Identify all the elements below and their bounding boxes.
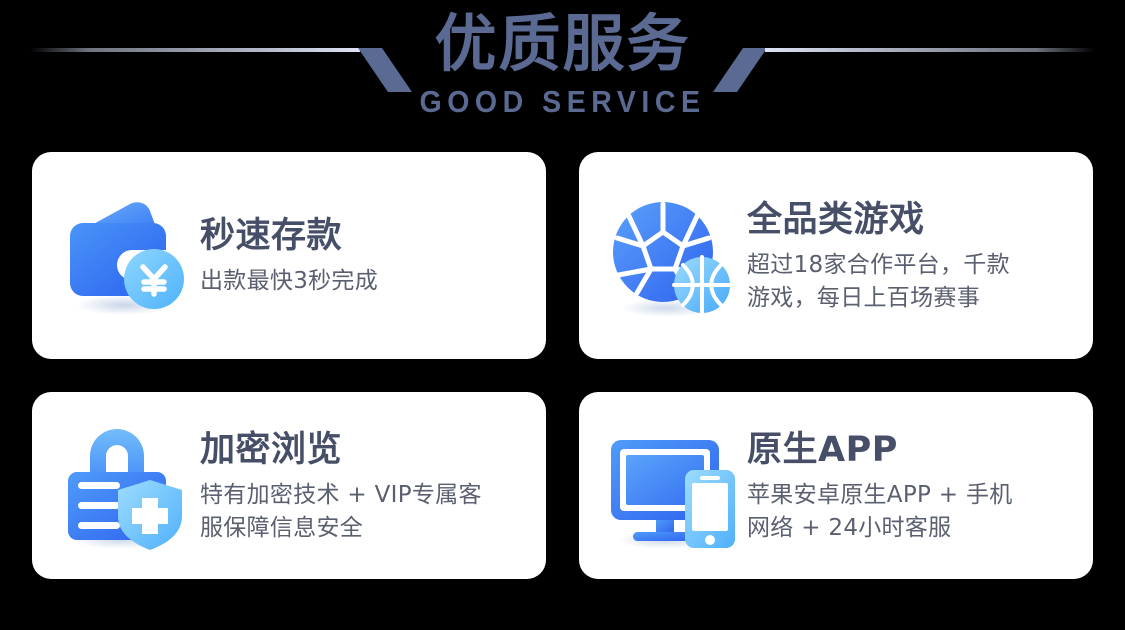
card-title: 原生APP <box>747 427 1079 473</box>
phone-speaker <box>700 476 720 480</box>
card-title: 秒速存款 <box>200 213 532 259</box>
service-card-native-app[interactable]: 原生APP 苹果安卓原生APP + 手机 网络 + 24小时客服 <box>579 392 1093 579</box>
card-description-line: 苹果安卓原生APP + 手机 <box>747 479 1079 512</box>
card-description: 特有加密技术 + VIP专属客 服保障信息安全 <box>200 479 532 545</box>
card-description-line: 服保障信息安全 <box>200 512 532 545</box>
card-description-line: 游戏，每日上百场赛事 <box>747 282 1079 315</box>
page-subtitle: GOOD SERVICE <box>45 84 1080 120</box>
monitor-phone-icon <box>601 420 741 552</box>
card-description-line: 出款最快3秒完成 <box>200 265 532 298</box>
lock-shackle <box>90 429 144 476</box>
basketball-seams <box>674 257 730 313</box>
monitor-stand-neck <box>656 520 674 534</box>
card-text-block: 秒速存款 出款最快3秒完成 <box>194 213 532 298</box>
service-card-encryption[interactable]: 加密浏览 特有加密技术 + VIP专属客 服保障信息安全 <box>32 392 546 579</box>
card-description: 超过18家合作平台，千款 游戏，每日上百场赛事 <box>747 249 1079 315</box>
lock-shield-icon <box>54 420 194 552</box>
banner-header: 优质服务 GOOD SERVICE <box>0 0 1125 142</box>
page-title: 优质服务 <box>0 6 1125 82</box>
card-description: 出款最快3秒完成 <box>200 265 532 298</box>
card-title: 加密浏览 <box>200 427 532 473</box>
soccer-basketball-icon <box>601 190 741 322</box>
card-description: 苹果安卓原生APP + 手机 网络 + 24小时客服 <box>747 479 1079 545</box>
card-description-line: 网络 + 24小时客服 <box>747 512 1079 545</box>
phone-screen <box>692 483 728 531</box>
card-text-block: 原生APP 苹果安卓原生APP + 手机 网络 + 24小时客服 <box>741 427 1079 545</box>
service-card-deposit[interactable]: 秒速存款 出款最快3秒完成 <box>32 152 546 359</box>
card-description-line: 特有加密技术 + VIP专属客 <box>200 479 532 512</box>
phone-home-button <box>705 535 715 545</box>
service-card-grid: 秒速存款 出款最快3秒完成 <box>32 152 1093 579</box>
header-title-block: 优质服务 GOOD SERVICE <box>0 6 1125 120</box>
card-title: 全品类游戏 <box>747 197 1079 243</box>
good-service-banner: 优质服务 GOOD SERVICE <box>0 0 1125 630</box>
wallet-yen-icon <box>54 190 194 322</box>
card-description-line: 超过18家合作平台，千款 <box>747 249 1079 282</box>
card-text-block: 全品类游戏 超过18家合作平台，千款 游戏，每日上百场赛事 <box>741 197 1079 315</box>
service-card-games[interactable]: 全品类游戏 超过18家合作平台，千款 游戏，每日上百场赛事 <box>579 152 1093 359</box>
card-text-block: 加密浏览 特有加密技术 + VIP专属客 服保障信息安全 <box>194 427 532 545</box>
